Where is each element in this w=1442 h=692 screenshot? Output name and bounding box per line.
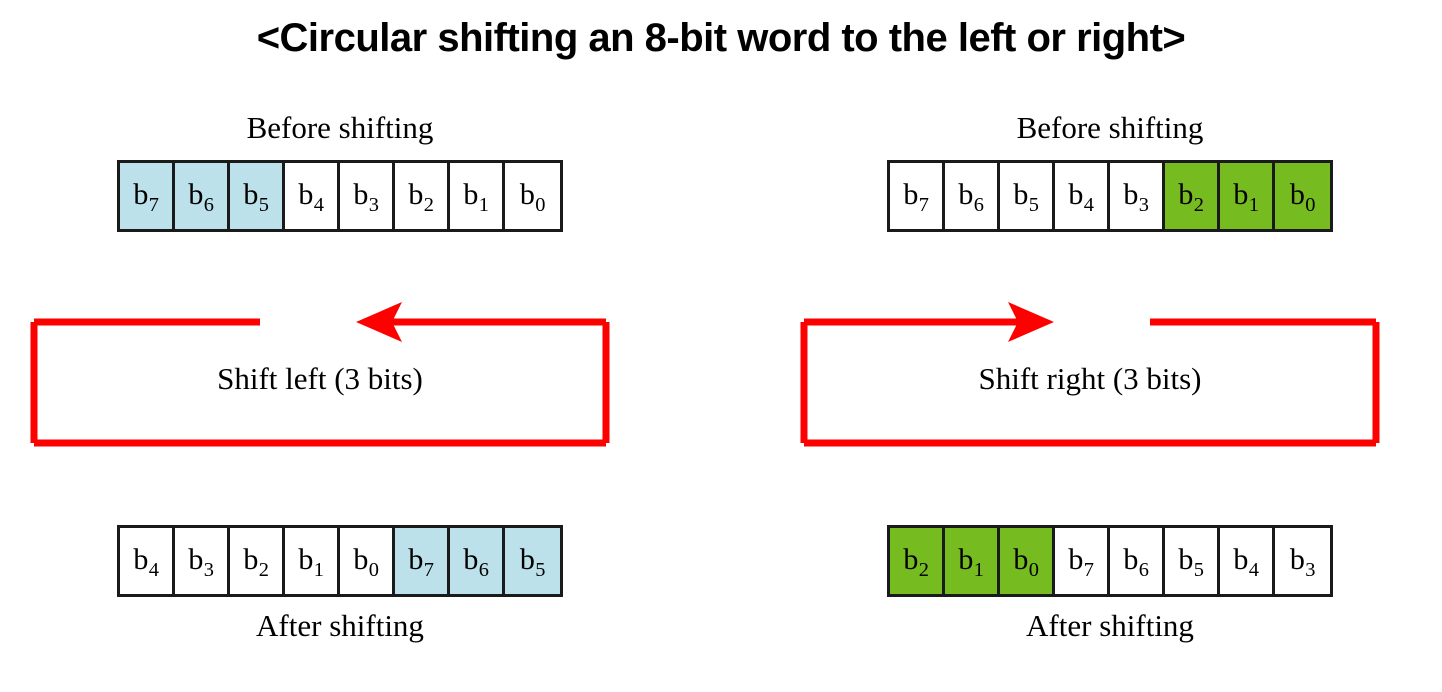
bit-label: b1	[463, 180, 488, 210]
bit-cell: b7	[1055, 528, 1110, 594]
bit-label: b3	[188, 545, 213, 575]
bit-index: 0	[369, 559, 379, 581]
bit-cell: b4	[120, 528, 175, 594]
bit-label: b5	[243, 180, 268, 210]
bit-index: 5	[1029, 194, 1039, 216]
bit-cell: b6	[450, 528, 505, 594]
circular-shift-loop-left: Shift left (3 bits)	[30, 315, 610, 450]
bit-index: 3	[1139, 194, 1149, 216]
bit-cell: b3	[175, 528, 230, 594]
bit-label: b0	[353, 545, 378, 575]
bit-row-after: b4b3b2b1b0b7b6b5	[117, 525, 563, 597]
bit-label: b0	[1290, 180, 1315, 210]
bit-label: b1	[298, 545, 323, 575]
bit-label: b5	[1178, 545, 1203, 575]
bit-cell: b2	[1165, 163, 1220, 229]
bit-label: b7	[1068, 545, 1093, 575]
bit-row-after: b2b1b0b7b6b5b4b3	[887, 525, 1333, 597]
bit-label: b5	[520, 545, 545, 575]
bit-index: 0	[535, 194, 545, 216]
bit-cell: b6	[1110, 528, 1165, 594]
bit-label: b2	[903, 545, 928, 575]
shift-right-diagram: Before shifting b7b6b5b4b3b2b1b0 Shift r…	[800, 100, 1420, 680]
bit-cell: b1	[450, 163, 505, 229]
bit-cell: b4	[285, 163, 340, 229]
bit-index: 4	[314, 194, 324, 216]
bit-index: 0	[1029, 559, 1039, 581]
bit-label: b6	[463, 545, 488, 575]
bit-cell: b0	[505, 163, 560, 229]
bit-row-before: b7b6b5b4b3b2b1b0	[117, 160, 563, 232]
bit-index: 4	[1249, 559, 1259, 581]
bit-cell: b0	[340, 528, 395, 594]
bit-cell: b3	[1275, 528, 1330, 594]
bit-label: b4	[133, 545, 158, 575]
bit-index: 6	[204, 194, 214, 216]
bit-cell: b6	[945, 163, 1000, 229]
shift-left-label: Shift left (3 bits)	[30, 363, 610, 394]
bit-label: b4	[1233, 545, 1258, 575]
bit-index: 3	[204, 559, 214, 581]
circular-shift-loop-right: Shift right (3 bits)	[800, 315, 1380, 450]
bit-label: b2	[1178, 180, 1203, 210]
caption-after-shifting: After shifting	[30, 610, 650, 641]
bit-cell: b1	[945, 528, 1000, 594]
bit-cell: b0	[1275, 163, 1330, 229]
bit-index: 7	[149, 194, 159, 216]
caption-before-shifting: Before shifting	[30, 112, 650, 143]
bit-cell: b5	[1000, 163, 1055, 229]
bit-label: b3	[353, 180, 378, 210]
bit-index: 5	[259, 194, 269, 216]
bit-label: b0	[1013, 545, 1038, 575]
bit-index: 0	[1305, 194, 1315, 216]
bit-label: b4	[1068, 180, 1093, 210]
bit-cell: b1	[285, 528, 340, 594]
bit-label: b7	[408, 545, 433, 575]
bit-cell: b7	[120, 163, 175, 229]
bit-label: b2	[408, 180, 433, 210]
bit-index: 4	[1084, 194, 1094, 216]
bit-index: 7	[424, 559, 434, 581]
bit-label: b1	[1233, 180, 1258, 210]
bit-row-before: b7b6b5b4b3b2b1b0	[887, 160, 1333, 232]
bit-index: 1	[314, 559, 324, 581]
bit-label: b7	[903, 180, 928, 210]
bit-index: 2	[259, 559, 269, 581]
bit-cell: b7	[890, 163, 945, 229]
bit-label: b2	[243, 545, 268, 575]
bit-cell: b4	[1220, 528, 1275, 594]
bit-cell: b3	[340, 163, 395, 229]
bit-label: b3	[1123, 180, 1148, 210]
bit-label: b4	[298, 180, 323, 210]
bit-cell: b2	[890, 528, 945, 594]
bit-index: 1	[1249, 194, 1259, 216]
bit-label: b6	[1123, 545, 1148, 575]
bit-label: b5	[1013, 180, 1038, 210]
bit-index: 1	[974, 559, 984, 581]
page-title: <Circular shifting an 8-bit word to the …	[0, 16, 1442, 61]
bit-cell: b0	[1000, 528, 1055, 594]
bit-label: b1	[958, 545, 983, 575]
bit-index: 6	[1139, 559, 1149, 581]
bit-label: b3	[1290, 545, 1315, 575]
shift-right-label: Shift right (3 bits)	[800, 363, 1380, 394]
bit-index: 3	[369, 194, 379, 216]
bit-index: 6	[974, 194, 984, 216]
bit-index: 2	[424, 194, 434, 216]
bit-cell: b3	[1110, 163, 1165, 229]
bit-cell: b7	[395, 528, 450, 594]
bit-label: b0	[520, 180, 545, 210]
bit-index: 2	[919, 559, 929, 581]
bit-cell: b5	[1165, 528, 1220, 594]
caption-before-shifting: Before shifting	[800, 112, 1420, 143]
bit-index: 7	[1084, 559, 1094, 581]
bit-index: 7	[919, 194, 929, 216]
bit-label: b6	[958, 180, 983, 210]
bit-cell: b6	[175, 163, 230, 229]
bit-cell: b5	[230, 163, 285, 229]
bit-label: b7	[133, 180, 158, 210]
bit-cell: b5	[505, 528, 560, 594]
bit-cell: b2	[395, 163, 450, 229]
bit-index: 4	[149, 559, 159, 581]
bit-index: 5	[1194, 559, 1204, 581]
bit-index: 1	[479, 194, 489, 216]
bit-cell: b4	[1055, 163, 1110, 229]
bit-label: b6	[188, 180, 213, 210]
bit-index: 5	[535, 559, 545, 581]
bit-cell: b2	[230, 528, 285, 594]
bit-index: 3	[1305, 559, 1315, 581]
shift-left-diagram: Before shifting b7b6b5b4b3b2b1b0 Shift l…	[30, 100, 650, 680]
bit-index: 2	[1194, 194, 1204, 216]
bit-index: 6	[479, 559, 489, 581]
bit-cell: b1	[1220, 163, 1275, 229]
caption-after-shifting: After shifting	[800, 610, 1420, 641]
